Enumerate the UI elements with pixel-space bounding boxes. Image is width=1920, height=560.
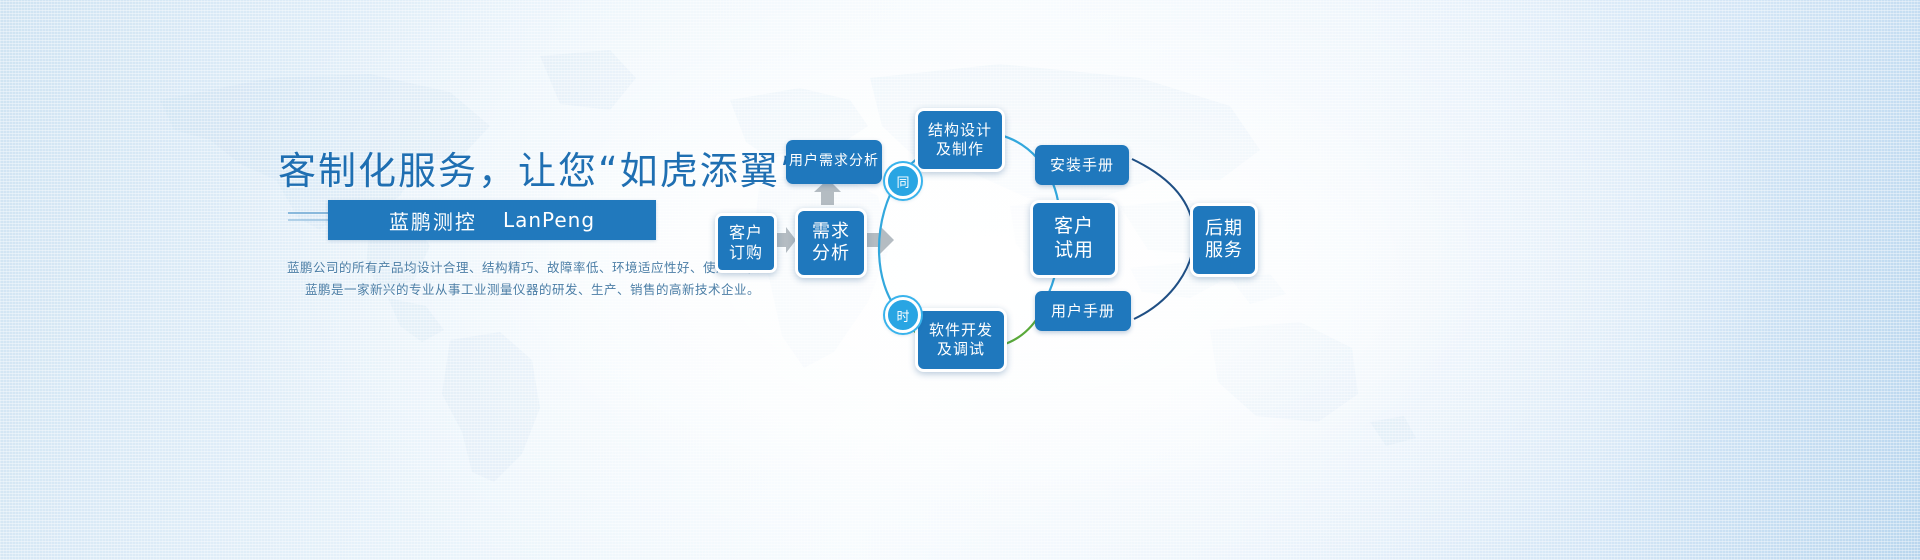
node-structure-design-line2: 及制作	[936, 140, 984, 159]
promo-banner: 客制化服务，让您“如虎添翼” 蓝鹏测控 LanPeng 蓝鹏公司的所有产品均设计…	[0, 0, 1920, 560]
node-customer-trial[interactable]: 客户 试用	[1030, 200, 1118, 278]
node-user-need[interactable]: 用户需求分析	[786, 140, 882, 184]
badge-tong-label: 同	[896, 172, 909, 191]
node-install-manual[interactable]: 安装手册	[1035, 145, 1129, 185]
brand-name-en: LanPeng	[503, 208, 595, 232]
node-user-need-label: 用户需求分析	[789, 153, 879, 170]
node-customer-order-line1: 客户	[729, 223, 763, 243]
node-install-manual-label: 安装手册	[1050, 156, 1114, 175]
node-demand-analysis[interactable]: 需求 分析	[795, 208, 867, 278]
node-customer-order[interactable]: 客户 订购	[715, 213, 777, 273]
brand-name-cn: 蓝鹏测控	[389, 206, 477, 235]
process-flow-diagram: 用户需求分析 客户 订购 需求 分析 结构设计 及制作 软件开发 及调试 安装手…	[700, 95, 1300, 415]
node-customer-trial-line2: 试用	[1054, 239, 1094, 263]
arc-to-after-service	[1132, 159, 1194, 319]
badge-shi: 时	[885, 297, 921, 333]
node-software-development[interactable]: 软件开发 及调试	[915, 308, 1007, 372]
node-structure-design-line1: 结构设计	[928, 121, 992, 140]
node-after-service-line1: 后期	[1205, 218, 1243, 240]
node-software-development-line1: 软件开发	[929, 321, 993, 340]
subtitle-line-2: 蓝鹏是一家新兴的专业从事工业测量仪器的研发、生产、销售的高新技术企业。	[305, 279, 760, 298]
brand-row: 蓝鹏测控 LanPeng	[288, 204, 668, 242]
node-user-manual-label: 用户手册	[1051, 302, 1115, 321]
node-software-development-line2: 及调试	[937, 340, 985, 359]
brand-bar: 蓝鹏测控 LanPeng	[328, 200, 656, 240]
badge-shi-label: 时	[896, 306, 909, 325]
node-after-service[interactable]: 后期 服务	[1190, 203, 1258, 277]
node-demand-analysis-line1: 需求	[812, 221, 850, 243]
node-customer-order-line2: 订购	[729, 243, 763, 263]
node-structure-design[interactable]: 结构设计 及制作	[915, 108, 1005, 172]
node-customer-trial-line1: 客户	[1054, 215, 1094, 239]
node-after-service-line2: 服务	[1205, 240, 1243, 262]
node-user-manual[interactable]: 用户手册	[1035, 291, 1131, 331]
node-demand-analysis-line2: 分析	[812, 243, 850, 265]
badge-tong: 同	[885, 163, 921, 199]
